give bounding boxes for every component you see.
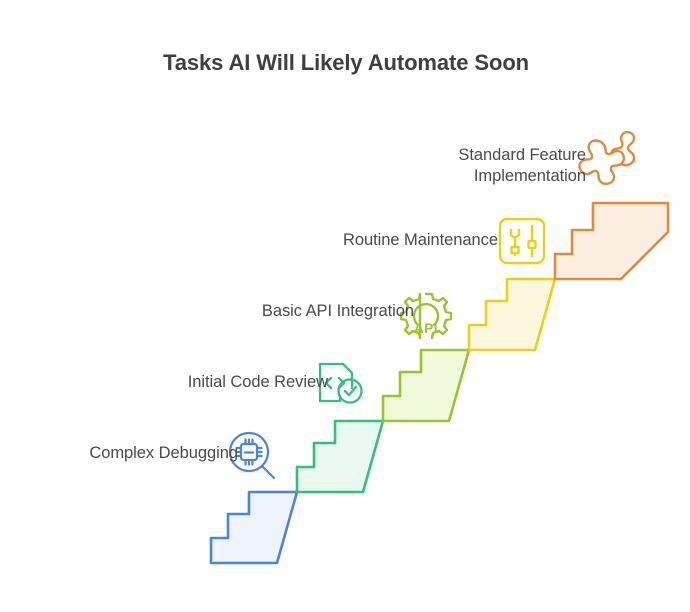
stair-segment-initial-code-review — [297, 421, 383, 492]
step-label-basic-api-integration: Basic API Integration — [174, 301, 414, 322]
step-label-initial-code-review: Initial Code Review — [98, 372, 328, 393]
stair-step-block-5 — [555, 203, 668, 279]
step-label-standard-feature-implementation: Standard Feature Implementation — [336, 145, 586, 187]
stair-segment-complex-debugging — [211, 492, 297, 563]
step-label-routine-maintenance: Routine Maintenance — [258, 230, 498, 251]
stair-step-block-3 — [383, 350, 469, 421]
stair-segment-routine-maintenance — [469, 279, 555, 350]
chart-canvas: Tasks AI Will Likely Automate Soon — [0, 0, 690, 612]
stair-segment-basic-api-integration — [383, 350, 469, 421]
step-label-complex-debugging: Complex Debugging — [8, 443, 238, 464]
stair-step-block-4 — [469, 279, 555, 350]
svg-text:API: API — [414, 321, 438, 336]
stair-step-block-2 — [297, 421, 383, 492]
puzzle-piece-icon — [579, 132, 634, 184]
stair-step-block-1 — [211, 492, 297, 563]
wrench-screwdriver-icon — [500, 219, 544, 263]
stair-segment-standard-feature-implementation — [555, 203, 668, 279]
